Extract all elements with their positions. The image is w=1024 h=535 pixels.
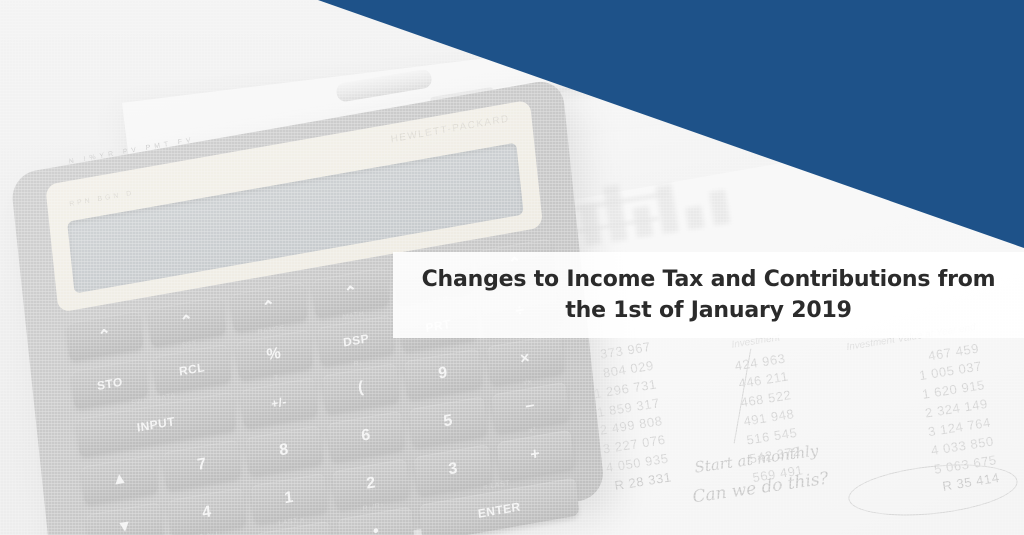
- calculator-key-label: 9: [438, 364, 449, 384]
- calculator-key-label: 2: [366, 474, 377, 494]
- calculator-key: 9: [404, 348, 482, 399]
- calculator-key: 4: [168, 487, 246, 535]
- calculator-key: x²+: [496, 430, 574, 481]
- calculator-key: MATHDSP: [317, 315, 395, 366]
- calculator-key-label: ENTER: [477, 499, 521, 520]
- calculator-key-label: 8: [278, 441, 289, 461]
- calculator-key-label: STO: [96, 375, 123, 393]
- calculator-key-label: ×: [519, 350, 531, 370]
- calculator-key-label: +/-: [270, 394, 287, 411]
- calculator-key: R↓(: [322, 363, 400, 414]
- calculator-key-label: 4: [201, 503, 212, 523]
- calculator-key-label: (: [357, 379, 365, 398]
- page-title-line-2: the 1st of January 2019: [565, 295, 851, 326]
- calculator-key-alt-label: R↓: [353, 360, 363, 369]
- calculator-key: yˣ×: [486, 334, 564, 385]
- calculator-key: 7: [163, 440, 241, 491]
- calculator-key-label: 3: [448, 460, 459, 480]
- calculator-key: R↓/R↑•: [337, 506, 415, 535]
- calculator-key: 6: [327, 411, 405, 462]
- calculator-key-label: INPUT: [136, 414, 175, 435]
- calculator-key: 3: [414, 444, 492, 495]
- calculator-key-label: ⌃: [179, 310, 195, 332]
- calculator-key-label: 7: [196, 455, 207, 475]
- calculator-key-alt-label: SST: [181, 340, 197, 350]
- calculator-key: RANGE%: [235, 329, 313, 380]
- calculator-key: √x−: [491, 382, 569, 433]
- calculator-key-alt-label: x̅: [274, 374, 279, 382]
- calculator-key: ▲: [81, 454, 159, 505]
- calculator-key: LAST x0: [255, 521, 333, 535]
- calculator-key-label: −: [524, 397, 536, 417]
- calculator-key: x̅+/-: [240, 377, 318, 428]
- title-plate: Changes to Income Tax and Contributions …: [393, 252, 1024, 338]
- calculator-key-label: ⌃: [343, 281, 359, 303]
- calculator-key-label: +: [529, 445, 541, 465]
- calculator-key: ▼: [86, 502, 164, 535]
- calculator-key: 5: [409, 396, 487, 447]
- calculator-key-alt-label: x²: [529, 427, 537, 435]
- calculator-key-label: •: [372, 522, 380, 535]
- calculator-key: SSTRCL: [153, 344, 231, 395]
- calculator-indicator-text: RPN BGN D: [69, 190, 135, 208]
- calculator-key: 2: [332, 459, 410, 510]
- page-title-line-1: Changes to Income Tax and Contributions …: [422, 264, 996, 295]
- calculator-key-alt-label: √x: [523, 379, 532, 387]
- calculator-key-label: 6: [361, 426, 372, 446]
- calculator-key-label: ▲: [111, 469, 129, 490]
- calculator-key-label: ⌃: [97, 325, 113, 347]
- calculator-key-label: ⌃: [261, 296, 277, 318]
- calculator-key-label: ▼: [116, 517, 134, 535]
- calculator-key-label: %: [266, 345, 282, 366]
- income-tax-banner: N I%YR PV PMT FV HEWLETT-PACKARD RPN BGN…: [0, 0, 1024, 535]
- calculator-key-label: RCL: [178, 360, 205, 379]
- calculator-key: 1: [250, 473, 328, 524]
- calculator-key-label: 1: [283, 489, 294, 509]
- calculator-key: 8: [245, 425, 323, 476]
- calculator-key-label: 5: [443, 412, 454, 432]
- calculator-key-label: DSP: [342, 331, 369, 350]
